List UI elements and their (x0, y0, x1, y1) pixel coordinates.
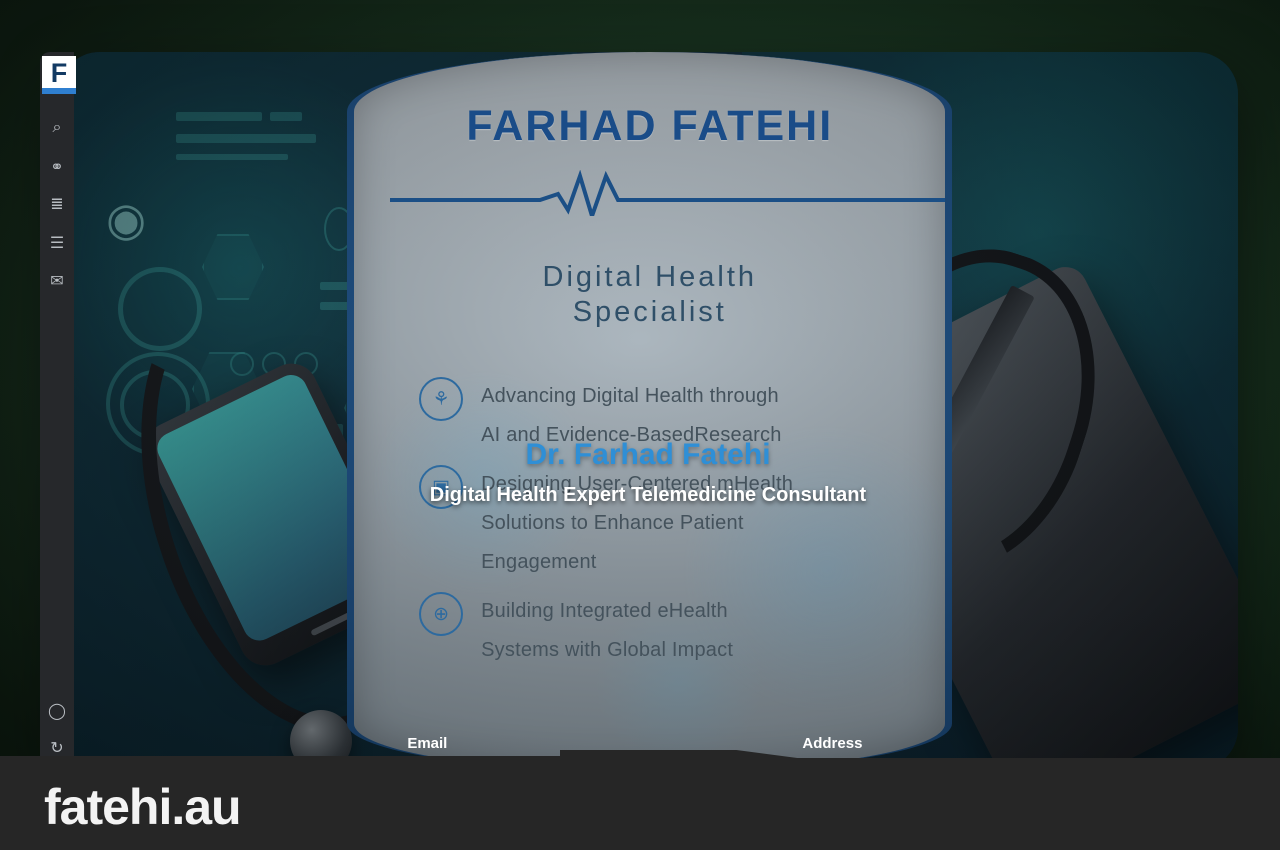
mail-icon[interactable]: ✉ (44, 269, 70, 295)
app-logo[interactable]: F (42, 56, 76, 94)
search-icon[interactable]: ⌕ (44, 115, 70, 141)
brain-ai-icon: ⚘ (419, 377, 463, 421)
subtitle-line-1: Digital Health (354, 260, 945, 295)
email-label: Email (407, 735, 447, 752)
circle-icon[interactable]: ◯ (44, 699, 70, 725)
page-subtitle: Digital Health Specialist (354, 260, 945, 331)
site-hero: ◉ 🧬 💼 👁 🔍 ⚕ ❤ ⚛ ⚗ 💧 🩺 (58, 52, 1238, 770)
app-logo-accent-bar (42, 88, 76, 94)
app-logo-letter: F (51, 58, 68, 88)
profile-card: FARHAD FATEHI Digital Health Specialist … (347, 52, 952, 770)
pill-icon: ◉ (106, 192, 146, 246)
document-icon[interactable]: ☰ (44, 231, 70, 257)
page-title: FARHAD FATEHI (354, 102, 945, 151)
list-item: ▣ Designing User-Centered mHealth Soluti… (419, 465, 904, 582)
overlay-person-name: Dr. Farhad Fatehi (58, 438, 1238, 472)
desktop-background: ◉ 🧬 💼 👁 🔍 ⚕ ❤ ⚛ ⚗ 💧 🩺 (0, 0, 1280, 850)
list-item-text: Building Integrated eHealth Systems with… (481, 592, 733, 670)
address-label: Address (749, 735, 916, 752)
layers-icon[interactable]: ≣ (44, 192, 70, 218)
ekg-line-icon (390, 170, 953, 216)
highlights-list: ⚘ Advancing Digital Health through AI an… (419, 377, 904, 680)
list-item-text: Designing User-Centered mHealth Solution… (481, 465, 793, 582)
browser-window: ◉ 🧬 💼 👁 🔍 ⚕ ❤ ⚛ ⚗ 💧 🩺 (58, 52, 1238, 770)
subtitle-line-2: Specialist (354, 295, 945, 330)
global-network-icon: ⊕ (419, 592, 463, 636)
overlay-person-role: Digital Health Expert Telemedicine Consu… (58, 484, 1238, 507)
list-item: ⊕ Building Integrated eHealth Systems wi… (419, 592, 904, 670)
link-icon[interactable]: ⚭ (44, 155, 70, 181)
watermark-text: fatehi.au (44, 778, 241, 836)
